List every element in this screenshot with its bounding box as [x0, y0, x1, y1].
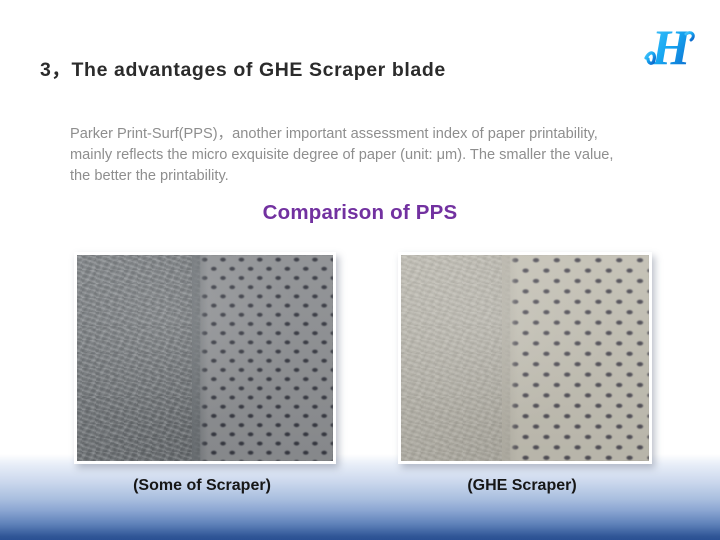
section-heading: Comparison of PPS [0, 201, 720, 225]
photo-vignette-left [77, 255, 333, 461]
photo-ghe-scraper [398, 252, 652, 464]
photo-image-left [77, 255, 333, 461]
page-title: 3，The advantages of GHE Scraper blade [40, 53, 446, 82]
body-paragraph: Parker Print-Surf(PPS)，another important… [70, 124, 630, 187]
script-h-glyph: H [646, 19, 693, 75]
photo-caption-right: (GHE Scraper) [398, 477, 646, 495]
photo-image-right [401, 255, 649, 461]
svg-text:H: H [651, 19, 693, 75]
photo-some-of-scraper [74, 252, 336, 464]
company-logo: H [636, 12, 706, 82]
photo-caption-left: (Some of Scraper) [74, 477, 330, 495]
bottom-gradient-band [0, 454, 720, 540]
slide-canvas: H 3，The advantages of GHE Scraper blade … [0, 0, 720, 540]
photo-vignette-right [401, 255, 649, 461]
